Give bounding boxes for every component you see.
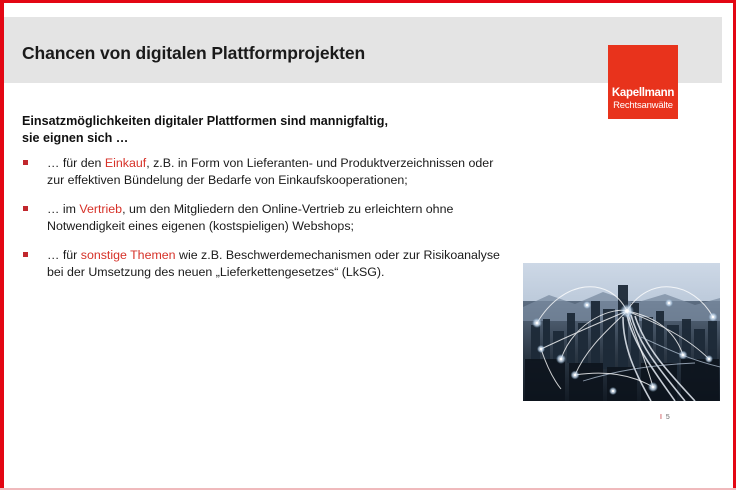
list-item: … im Vertrieb, um den Mitgliedern den On… [22,201,512,234]
city-network-illustration [523,263,720,401]
lead-line-2: sie eignen sich … [22,131,128,145]
page-number-value: 5 [666,414,671,421]
lead-line-1: Einsatzmöglichkeiten digitaler Plattform… [22,114,388,128]
logo-name: Kapellmann [608,87,678,100]
logo-subtitle: Rechtsanwälte [608,100,678,112]
list-item: … für sonstige Themen wie z.B. Beschwerd… [22,247,512,280]
bullet-text-highlight: Einkauf [105,156,146,170]
bullet-square-icon [23,206,28,211]
slide-border-top [0,0,736,3]
list-item: … für den Einkauf, z.B. in Form von Lief… [22,155,512,188]
bullet-text-pre: … für den [47,156,105,170]
kapellmann-logo: Kapellmann Rechtsanwälte [608,45,678,119]
bullet-text-pre: … im [47,202,79,216]
slide: Chancen von digitalen Plattformprojekten… [0,0,736,490]
bullet-square-icon [23,160,28,165]
city-network-photo [523,263,720,401]
page-number: I 5 [660,414,671,421]
bullet-text-highlight: sonstige Themen [81,248,176,262]
logo-text-block: Kapellmann Rechtsanwälte [608,87,678,112]
page-title: Chancen von digitalen Plattformprojekten [22,43,365,64]
bullet-text-highlight: Vertrieb [79,202,122,216]
page-number-separator: I [660,414,663,421]
bullet-text-pre: … für [47,248,81,262]
lead-paragraph: Einsatzmöglichkeiten digitaler Plattform… [22,113,542,147]
bullet-square-icon [23,252,28,257]
bullet-list: … für den Einkauf, z.B. in Form von Lief… [22,155,512,293]
